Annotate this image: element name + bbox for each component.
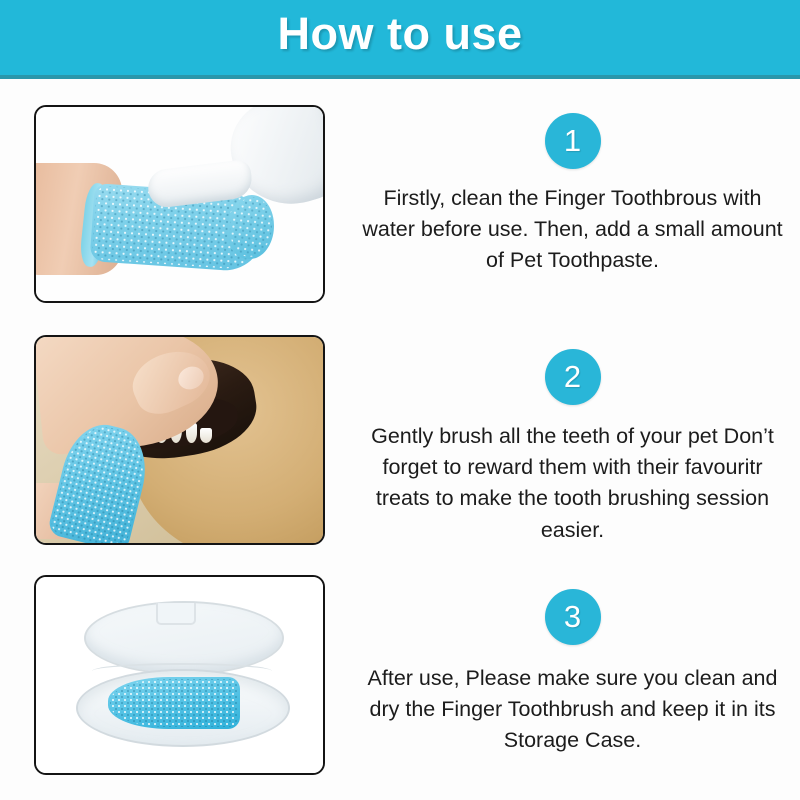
step-1-body: 1 Firstly, clean the Finger Toothbrous w…	[345, 105, 800, 277]
step-number-badge-1: 1	[545, 113, 601, 169]
silicone-brush-body	[108, 677, 240, 729]
step-1-photo-frame	[34, 105, 325, 303]
step-3-description: After use, Please make sure you clean an…	[358, 663, 788, 757]
step-2-description: Gently brush all the teeth of your pet D…	[358, 421, 788, 546]
photo-brushing-dog-teeth	[36, 337, 323, 543]
step-3-photo-frame	[34, 575, 325, 775]
step-2-body: 2 Gently brush all the teeth of your pet…	[345, 335, 800, 546]
step-row-3: 3 After use, Please make sure you clean …	[0, 575, 800, 777]
step-1-description: Firstly, clean the Finger Toothbrous wit…	[358, 183, 788, 277]
step-number-badge-3: 3	[545, 589, 601, 645]
step-3-body: 3 After use, Please make sure you clean …	[345, 575, 800, 757]
storage-case-hinge	[92, 663, 272, 679]
step-row-1: 1 Firstly, clean the Finger Toothbrous w…	[0, 105, 800, 305]
step-2-photo-frame	[34, 335, 325, 545]
step-number-badge-2: 2	[545, 349, 601, 405]
page-title: How to use	[0, 9, 800, 59]
storage-case-lid-tab	[156, 603, 196, 625]
page-header-banner: How to use	[0, 0, 800, 79]
photo-brush-in-storage-case	[36, 577, 323, 773]
step-row-2: 2 Gently brush all the teeth of your pet…	[0, 335, 800, 547]
photo-finger-brush-with-toothpaste	[36, 107, 323, 301]
